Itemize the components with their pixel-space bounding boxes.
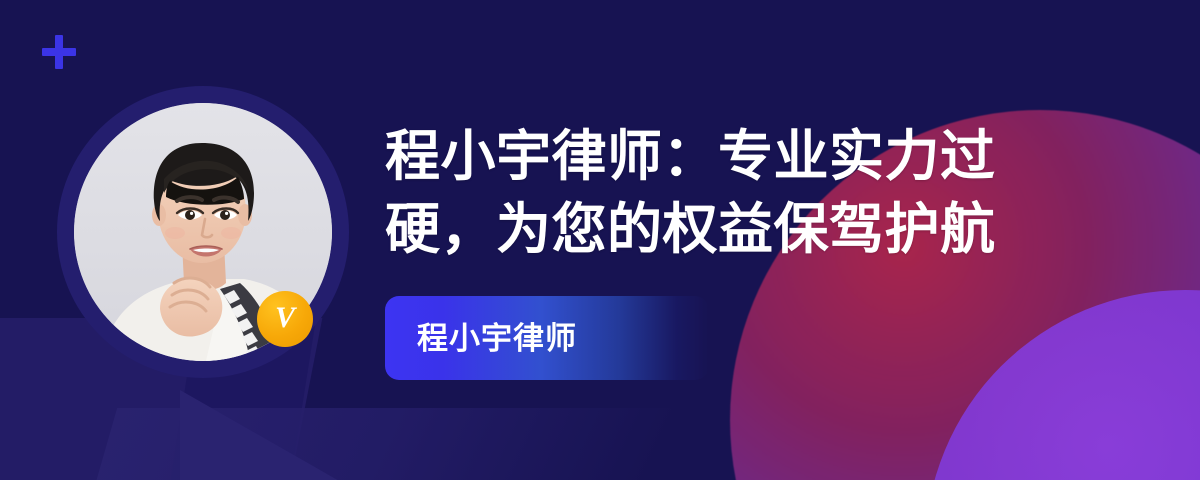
lawyer-profile-banner: V 程小宇律师：专业实力过 硬，为您的权益保驾护航 程小宇律师 <box>0 0 1200 480</box>
lawyer-name-label: 程小宇律师 <box>417 323 577 354</box>
decorative-triangle <box>180 390 390 480</box>
plus-icon <box>42 35 76 69</box>
lawyer-name-chip[interactable]: 程小宇律师 <box>385 296 709 380</box>
verified-badge: V <box>257 291 313 347</box>
page-title: 程小宇律师：专业实力过 硬，为您的权益保驾护航 <box>385 120 1105 266</box>
avatar: V <box>57 86 349 378</box>
verified-badge-glyph: V <box>275 303 295 333</box>
content-column: 程小宇律师：专业实力过 硬，为您的权益保驾护航 程小宇律师 <box>385 120 1105 266</box>
